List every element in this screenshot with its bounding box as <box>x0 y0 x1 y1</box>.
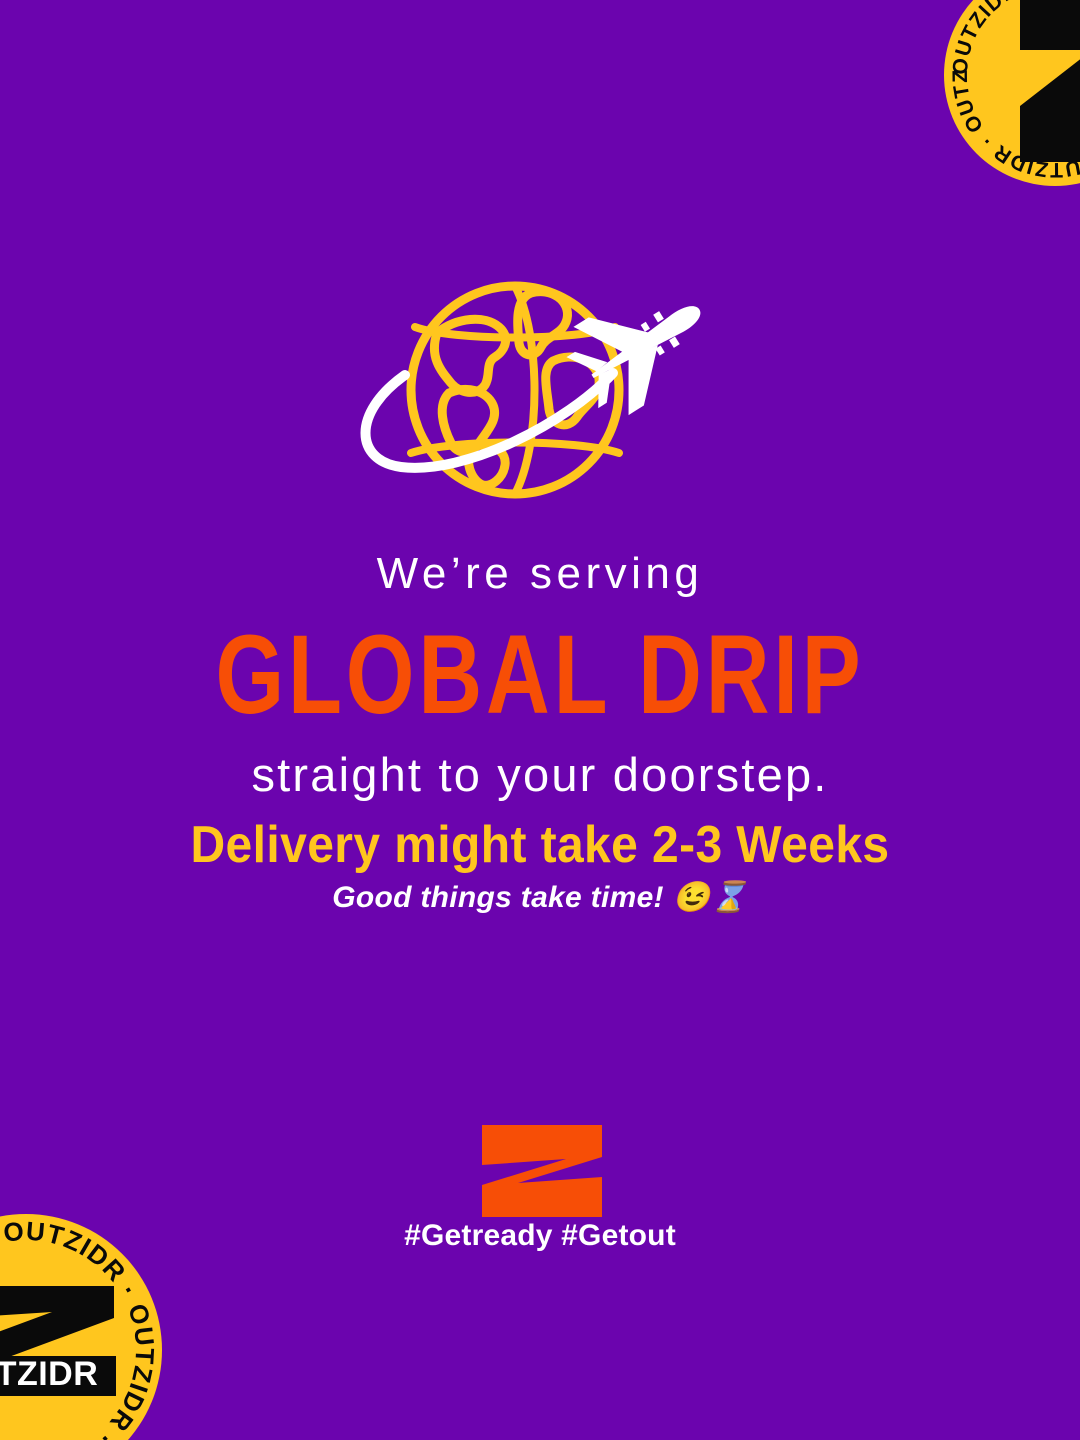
brand-badge-monogram-top-right <box>1012 0 1080 162</box>
brand-badge-monogram-bottom-left: OUTZIDR <box>0 1284 116 1414</box>
page-title: GLOBAL DRIP <box>22 614 1059 737</box>
brand-logo-z <box>478 1123 606 1219</box>
headline-block: We’re serving GLOBAL DRIP straight to yo… <box>0 548 1080 803</box>
badge-wordmark: OUTZIDR <box>0 1355 98 1393</box>
kicker-text: We’re serving <box>0 548 1080 600</box>
delivery-estimate: Delivery might take 2-3 Weeks <box>0 816 1080 875</box>
subline-text: straight to your doorstep. <box>0 747 1080 802</box>
delivery-note: Good things take time! 😉⌛ <box>0 880 1080 915</box>
globe-airplane-illustration <box>345 265 735 525</box>
hashtags-text: #Getready #Getout <box>0 1219 1080 1253</box>
poster-canvas: OUTZIDR · OUTZIDR · OUTZIDR · OUTZIDR · … <box>0 0 1080 1440</box>
